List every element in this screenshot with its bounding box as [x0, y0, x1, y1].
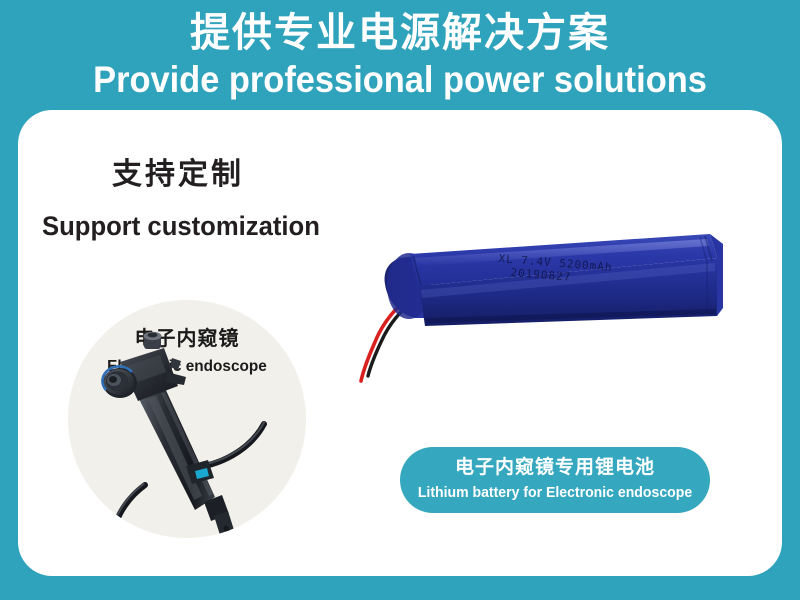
badge-label-english: Lithium battery for Electronic endoscope [405, 483, 706, 503]
endoscope-circle-panel: 电子内窥镜 Electronic endoscope [68, 300, 306, 538]
header-title-english: Provide professional power solutions [28, 58, 772, 102]
customization-title-english: Support customization [42, 208, 320, 244]
customization-title-chinese: 支持定制 [112, 155, 244, 195]
endoscope-device-icon [68, 300, 306, 538]
product-banner: 提供专业电源解决方案 Provide professional power so… [0, 0, 800, 600]
badge-label-chinese: 电子内窥镜专用锂电池 [400, 455, 710, 481]
product-name-badge: 电子内窥镜专用锂电池 Lithium battery for Electroni… [400, 447, 710, 513]
banner-header: 提供专业电源解决方案 Provide professional power so… [0, 0, 800, 108]
battery-pack-icon [355, 218, 730, 393]
header-title-chinese: 提供专业电源解决方案 [0, 9, 800, 57]
